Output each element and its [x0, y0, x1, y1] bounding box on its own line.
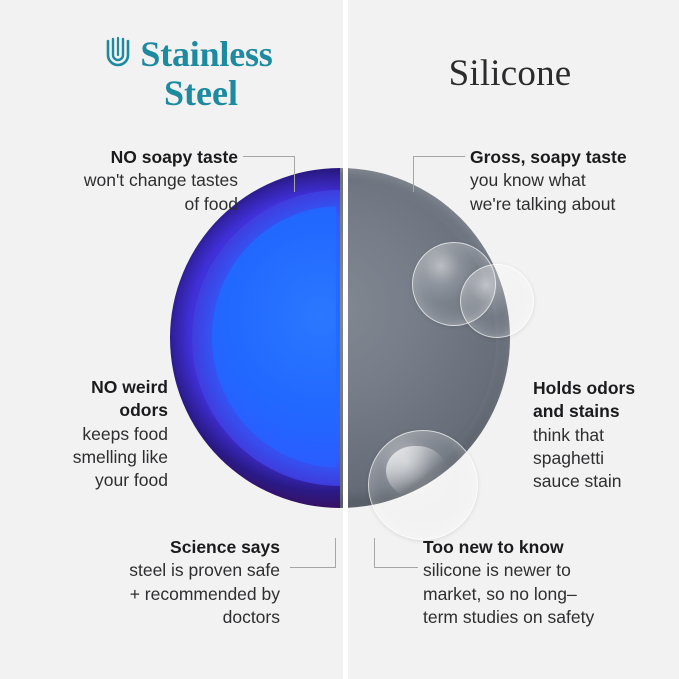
callout-body-line: keeps food [18, 423, 168, 446]
bubble-highlight-icon [386, 446, 446, 498]
callout-body-line: market, so no long– [423, 583, 673, 606]
hand-fingers-logo-icon [105, 35, 131, 74]
connector-segment [243, 156, 295, 157]
callout-headline-line: Holds odors [533, 377, 673, 400]
callout-headline: NO soapy taste [18, 146, 238, 169]
callout-body-line: + recommended by [40, 583, 280, 606]
stainless-steel-heading: Stainless Steel [58, 34, 320, 114]
callout-body-line: silicone is newer to [423, 559, 673, 582]
product-photo [170, 168, 510, 508]
connector-segment [290, 567, 336, 568]
connector-segment [374, 567, 418, 568]
callout-body-line: you know what [470, 169, 670, 192]
brand-name-line-2: Steel [58, 73, 320, 114]
connector-segment [413, 156, 465, 157]
callout-too-new-to-know: Too new to know silicone is newer to mar… [423, 536, 673, 629]
brand-name-line-1: Stainless [140, 34, 272, 75]
connector-segment [335, 538, 336, 568]
callout-headline: Too new to know [423, 536, 673, 559]
connector-line-science-says [290, 538, 336, 568]
callout-headline: Science says [40, 536, 280, 559]
callout-headline-line: and stains [533, 400, 673, 423]
callout-gross-soapy-taste: Gross, soapy taste you know what we're t… [470, 146, 670, 216]
silicone-heading: Silicone [360, 52, 660, 95]
callout-headline-line: NO weird [18, 376, 168, 399]
callout-body-line: smelling like [18, 446, 168, 469]
comparison-infographic: Stainless Steel Silicone NO soapy taste … [0, 0, 679, 679]
callout-body-line: term studies on safety [423, 606, 673, 629]
callout-headline: Gross, soapy taste [470, 146, 670, 169]
callout-headline-line: odors [18, 399, 168, 422]
callout-body-line: spaghetti [533, 447, 673, 470]
connector-segment [294, 156, 295, 192]
connector-segment [374, 538, 375, 568]
soap-bubble-icon [460, 264, 534, 338]
connector-line-gross-soapy-taste [413, 156, 465, 192]
callout-body-line: doctors [40, 606, 280, 629]
callout-body-line: we're talking about [470, 193, 670, 216]
connector-segment [413, 156, 414, 192]
callout-body-line: won't change tastes [18, 169, 238, 192]
callout-no-weird-odors: NO weird odors keeps food smelling like … [18, 376, 168, 492]
column-divider [343, 0, 348, 679]
callout-body-line: sauce stain [533, 470, 673, 493]
callout-body-line: your food [18, 469, 168, 492]
callout-holds-odors-and-stains: Holds odors and stains think that spaghe… [533, 377, 673, 493]
callout-body-line: steel is proven safe [40, 559, 280, 582]
connector-line-no-soapy-taste [243, 156, 295, 192]
callout-body-line: think that [533, 424, 673, 447]
callout-science-says: Science says steel is proven safe + reco… [40, 536, 280, 629]
callout-no-soapy-taste: NO soapy taste won't change tastes of fo… [18, 146, 238, 216]
callout-body-line: of food [18, 193, 238, 216]
connector-line-too-new-to-know [374, 538, 418, 568]
